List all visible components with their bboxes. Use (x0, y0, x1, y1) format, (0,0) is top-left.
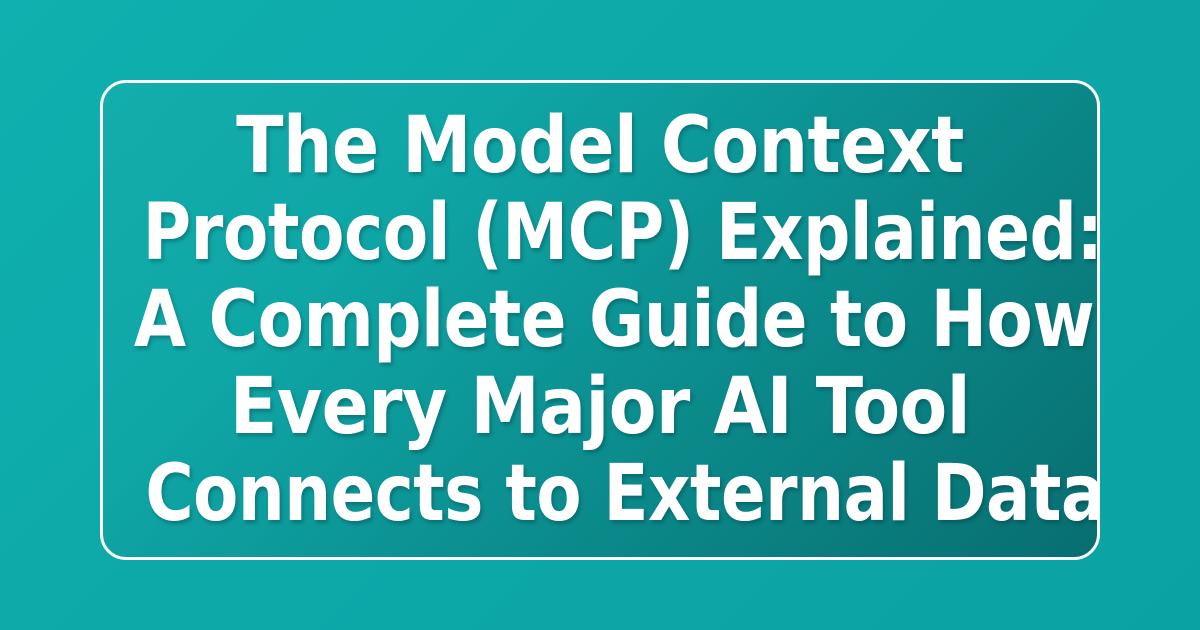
title-line-3: A Complete Guide to How (134, 277, 1066, 364)
og-banner: The Model Context Protocol (MCP) Explain… (0, 0, 1200, 630)
title-line-1: The Model Context (120, 103, 1080, 190)
page-title: The Model Context Protocol (MCP) Explain… (103, 83, 1097, 557)
title-line-4: Every Major AI Tool (120, 364, 1080, 451)
hero-card: The Model Context Protocol (MCP) Explain… (100, 80, 1100, 560)
site-watermark: The Data Lakehouse Hub (103, 557, 1097, 560)
title-line-5: Connects to External Data (145, 451, 1054, 538)
title-line-2: Protocol (MCP) Explained: (143, 190, 1058, 277)
